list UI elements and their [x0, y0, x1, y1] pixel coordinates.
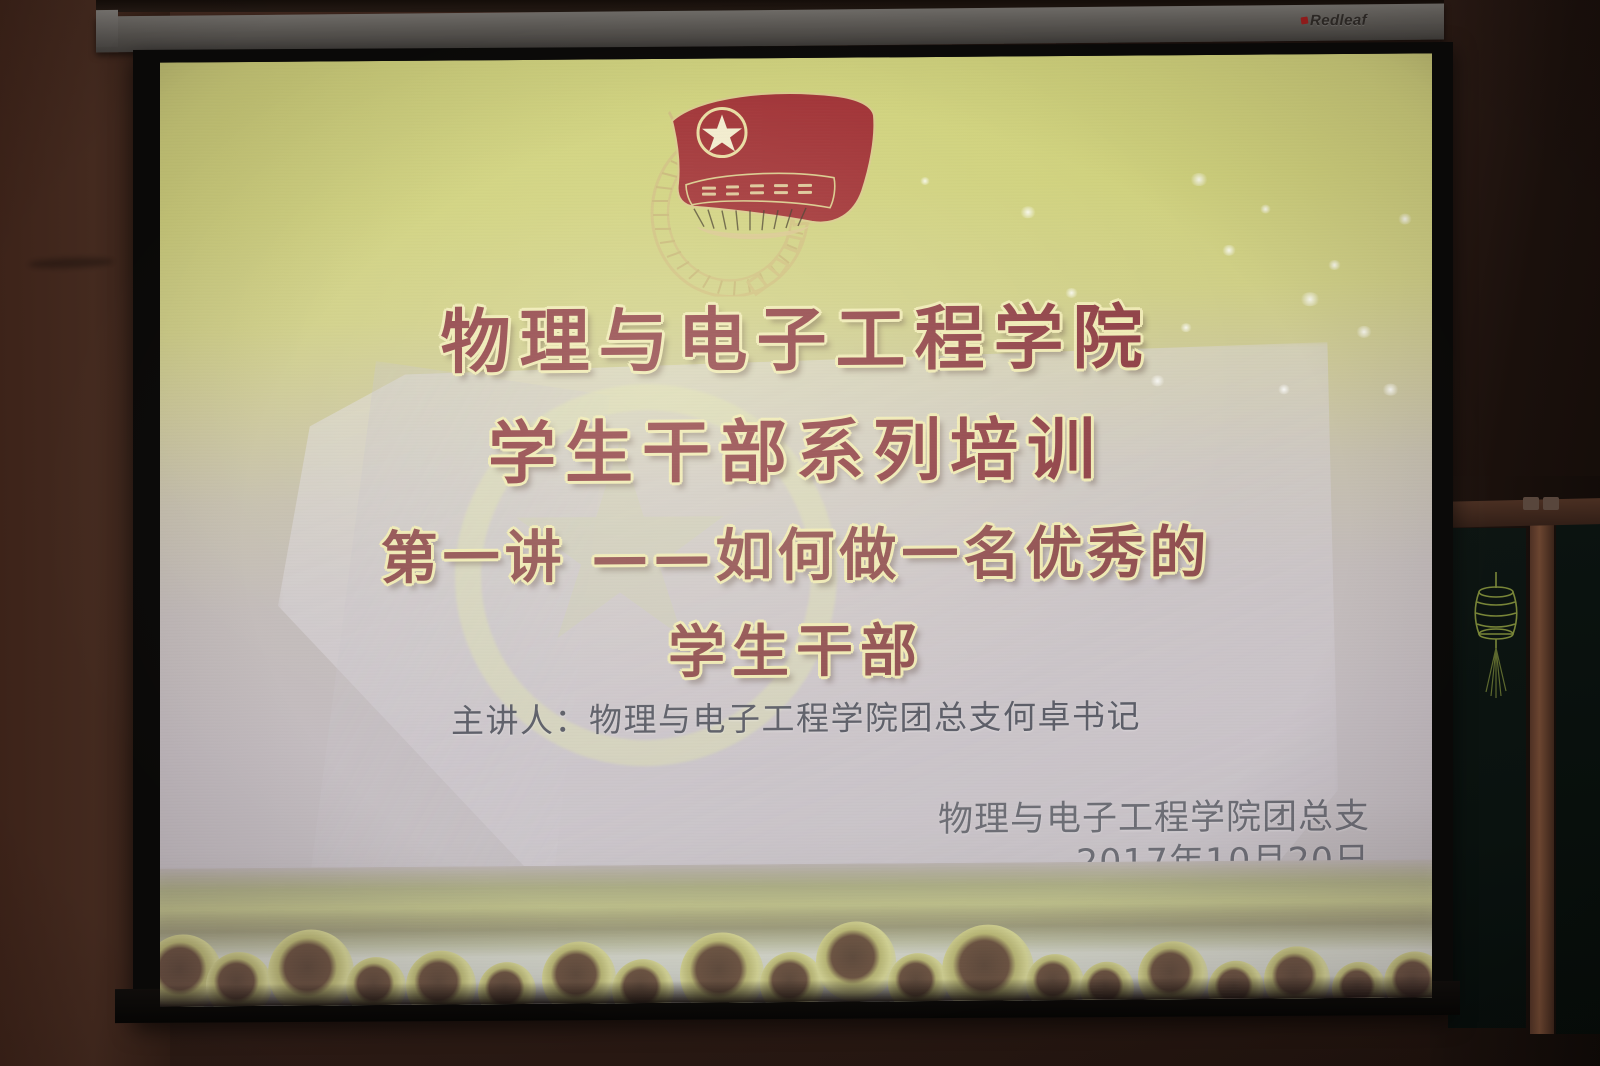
sunflower-field-photo: [160, 859, 1432, 1006]
slide-subtitle-line-2: 学生干部: [160, 601, 1432, 692]
slide-footer-organization: 物理与电子工程学院团总支: [938, 796, 1370, 843]
cabinet-knob-left: [1523, 497, 1539, 510]
slide-presenter-line: 主讲人：物理与电子工程学院团总支何卓书记: [160, 687, 1432, 744]
cabinet-top-rail: [1440, 498, 1600, 528]
room-photo-scene: Redleaf: [0, 0, 1600, 1066]
slide-title-line-1: 物理与电子工程学院: [160, 279, 1432, 389]
roller-end-cap: [96, 10, 118, 47]
slide-subtitle-line-1: 第一讲 ——如何做一名优秀的: [160, 505, 1432, 596]
cabinet-knob-right: [1543, 497, 1559, 510]
projected-slide: 物理与电子工程学院 学生干部系列培训 第一讲 ——如何做一名优秀的 学生干部 主…: [160, 53, 1432, 1006]
cabinet-glass-panel-right: [1556, 524, 1600, 1034]
brand-mark-dot-icon: [1301, 17, 1309, 25]
lantern-icon: [1470, 572, 1522, 702]
slide-title-line-2: 学生干部系列培训: [160, 391, 1432, 499]
cabinet-mullion: [1530, 524, 1554, 1034]
screen-brand-label: Redleaf: [1310, 12, 1367, 30]
